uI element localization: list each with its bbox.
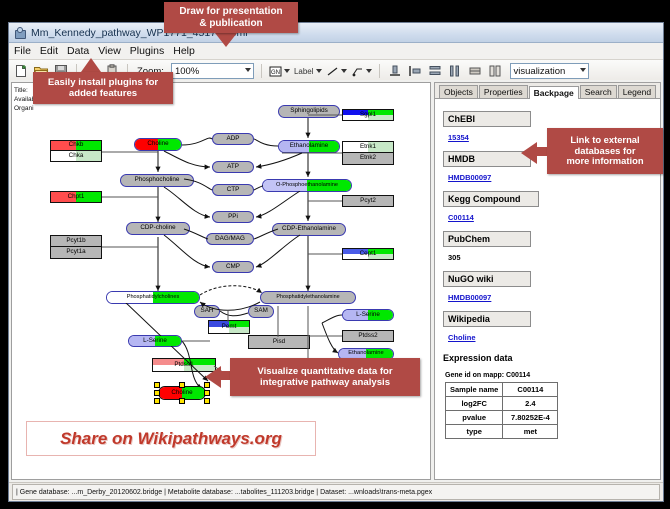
db-header-nugo: NuGO wiki [443, 271, 531, 287]
table-row: log2FC 2.4 [446, 397, 558, 411]
node-label: Chpt1 [68, 194, 85, 200]
node-label: Etnk2 [360, 155, 376, 161]
callout-links: Link to external databases for more info… [547, 128, 663, 174]
visualization-combobox[interactable]: visualization [510, 63, 589, 79]
menu-bar: File Edit Data View Plugins Help [9, 43, 663, 60]
pathvisio-icon [14, 27, 26, 39]
align-left-icon[interactable] [407, 63, 423, 79]
svg-text:GN: GN [271, 70, 280, 76]
label-tool[interactable]: Label [294, 67, 322, 76]
status-bar: | Gene database: ...m_Derby_20120602.bri… [9, 482, 663, 501]
node-chka[interactable]: Chka [50, 151, 102, 162]
node-label: Cept1 [360, 251, 377, 257]
node-label: CTP [227, 187, 240, 193]
menu-item-file[interactable]: File [14, 45, 31, 57]
node-label: Pemt [222, 324, 237, 330]
table-row: Sample name C00114 [446, 383, 558, 397]
node-l-serine-left[interactable]: L-Serine [128, 335, 182, 347]
callout-draw-line1: Draw for presentation [179, 6, 282, 18]
callout-links-line3: more information [566, 156, 643, 167]
callout-visualize-line2: integrative pathway analysis [260, 377, 390, 388]
stack-icon[interactable] [467, 63, 483, 79]
node-label: Ptdss2 [358, 333, 377, 339]
node-o-phosphoethanolamine[interactable]: O-Phosphoethanolamine [262, 179, 352, 192]
line-tool[interactable] [326, 65, 347, 78]
chevron-down-icon [366, 69, 372, 73]
zoom-combobox[interactable]: 100% [171, 63, 254, 79]
tab-legend[interactable]: Legend [618, 85, 656, 98]
align-bottom-icon[interactable] [387, 63, 403, 79]
expr-value: met [503, 425, 558, 439]
node-label: SAM [254, 308, 268, 314]
node-label: Sgpl1 [360, 112, 376, 118]
node-label: Chkb [69, 142, 84, 148]
node-label: Pcyt1a [66, 249, 85, 255]
gene-id-line: Gene id on mapp: C00114 [445, 372, 660, 379]
selection-handle[interactable] [204, 398, 210, 404]
title-bar: Mm_Kennedy_pathway_WP1771_45176.gpml [9, 23, 663, 43]
callout-draw-line2: & publication [199, 18, 262, 30]
expr-key: log2FC [446, 397, 503, 411]
table-row: pvalue 7.80252E-4 [446, 411, 558, 425]
share-banner: Share on Wikipathways.org [26, 421, 316, 456]
tab-objects[interactable]: Objects [439, 85, 478, 98]
db-header-wikipedia: Wikipedia [443, 311, 531, 327]
tab-properties[interactable]: Properties [479, 85, 528, 98]
chevron-down-icon [580, 68, 586, 72]
node-etnk1[interactable]: Etnk1 [342, 141, 394, 153]
node-label: Choline [147, 141, 168, 147]
callout-links-pointer [521, 142, 537, 164]
node-label: Ptdss1 [174, 362, 193, 368]
datanode-tool[interactable]: GN [269, 65, 290, 78]
callout-links-line1: Link to external [570, 135, 639, 146]
node-label: Etnk1 [360, 144, 376, 150]
menu-item-data[interactable]: Data [67, 45, 89, 57]
tab-backpage[interactable]: Backpage [529, 86, 579, 99]
expr-value: C00114 [503, 383, 558, 397]
node-chpt1[interactable]: Chpt1 [50, 191, 102, 203]
callout-visualize-line1: Visualize quantitative data for [257, 366, 392, 377]
selection-handle[interactable] [154, 390, 160, 396]
expression-table: Sample name C00114 log2FC 2.4 pvalue 7.8… [445, 382, 558, 439]
menu-item-help[interactable]: Help [173, 45, 195, 57]
callout-visualize-pointer [205, 366, 221, 388]
callout-plugins-line2: added features [69, 88, 137, 99]
meta-organism-label: Organi [14, 104, 35, 113]
label-tool-text: Label [294, 67, 314, 76]
node-label: Ethanolamine [348, 351, 383, 357]
node-label: Phosphatidylcholines [127, 295, 180, 301]
node-label: O-Phosphoethanolamine [276, 183, 338, 189]
callout-draw: Draw for presentation & publication [164, 2, 298, 33]
node-label: SAH [201, 308, 214, 314]
toolbar-separator [379, 64, 380, 78]
db-link-kegg[interactable]: C00114 [448, 213, 474, 222]
expr-key: type [446, 425, 503, 439]
selection-handle[interactable] [179, 382, 185, 388]
node-phosphatidylcholines[interactable]: Phosphatidylcholines [106, 291, 200, 304]
node-label: Pisd [273, 339, 285, 345]
node-label: Choline [171, 390, 192, 396]
menu-item-edit[interactable]: Edit [40, 45, 58, 57]
group-icon[interactable] [487, 63, 503, 79]
distribute-horizontal-icon[interactable] [447, 63, 463, 79]
node-label: CDP-choline [140, 225, 175, 231]
side-panel-tabs: Objects Properties Backpage Search Legen… [435, 83, 660, 99]
chevron-down-icon [316, 69, 322, 73]
interaction-tool[interactable] [351, 65, 372, 78]
node-label: Phosphatidylethanolamine [276, 295, 339, 300]
node-label: Ethanolamine [290, 143, 329, 149]
db-link-hmdb[interactable]: HMDB00097 [448, 173, 491, 182]
node-label: PPi [228, 214, 238, 220]
expr-key: Sample name [446, 383, 503, 397]
node-label: CMP [226, 264, 240, 270]
selection-handle[interactable] [154, 382, 160, 388]
node-label: Pcyt1b [66, 238, 85, 244]
node-label: Chka [69, 153, 84, 159]
callout-plugins: Easily install plugins for added feature… [33, 72, 173, 104]
node-chkb[interactable]: Chkb [50, 140, 102, 151]
db-link-nugo[interactable]: HMDB00097 [448, 293, 491, 302]
table-row: type met [446, 425, 558, 439]
node-label: CDP-Ethanolamine [282, 226, 336, 232]
screenshot-root: Mm_Kennedy_pathway_WP1771_45176.gpml Fil… [0, 0, 670, 509]
distribute-vertical-icon[interactable] [427, 63, 443, 79]
node-label: L-Serine [143, 338, 167, 344]
db-header-kegg: Kegg Compound [443, 191, 539, 207]
expr-value: 7.80252E-4 [503, 411, 558, 425]
callout-visualize: Visualize quantitative data for integrat… [230, 358, 420, 396]
expr-key: pvalue [446, 411, 503, 425]
db-header-pubchem: PubChem [443, 231, 531, 247]
new-file-icon[interactable] [13, 63, 29, 79]
db-link-wikipedia[interactable]: Choline [448, 333, 476, 342]
db-header-hmdb: HMDB [443, 151, 531, 167]
node-label: DAG/MAG [215, 236, 245, 242]
db-value-pubchem: 305 [448, 253, 461, 262]
node-label: ADP [227, 136, 240, 142]
menu-item-view[interactable]: View [98, 45, 121, 57]
chevron-down-icon [341, 69, 347, 73]
db-header-chebi: ChEBI [443, 111, 531, 127]
node-ethanolamine[interactable]: Ethanolamine [278, 140, 340, 153]
menu-item-plugins[interactable]: Plugins [130, 45, 164, 57]
toolbar-separator [261, 64, 262, 78]
visualization-value: visualization [514, 66, 566, 77]
node-label: Phosphocholine [135, 177, 180, 183]
node-label: Sphingolipids [290, 108, 327, 114]
node-label: L-Serine [356, 312, 380, 318]
node-choline-top[interactable]: Choline [134, 138, 182, 151]
expr-value: 2.4 [503, 397, 558, 411]
selection-handle[interactable] [179, 398, 185, 404]
chevron-down-icon [284, 69, 290, 73]
node-label: Pcyt2 [360, 198, 376, 204]
expression-data-title: Expression data [443, 353, 660, 363]
node-label: ATP [227, 164, 239, 170]
db-link-chebi[interactable]: 15354 [448, 133, 469, 142]
chevron-down-icon [245, 68, 251, 72]
callout-plugins-line1: Easily install plugins for [48, 77, 158, 88]
selection-handle[interactable] [154, 398, 160, 404]
zoom-value: 100% [175, 66, 199, 77]
status-text: | Gene database: ...m_Derby_20120602.bri… [12, 484, 660, 500]
node-l-serine-right[interactable]: L-Serine [342, 309, 394, 321]
tab-search[interactable]: Search [580, 85, 617, 98]
selection-handle[interactable] [204, 390, 210, 396]
